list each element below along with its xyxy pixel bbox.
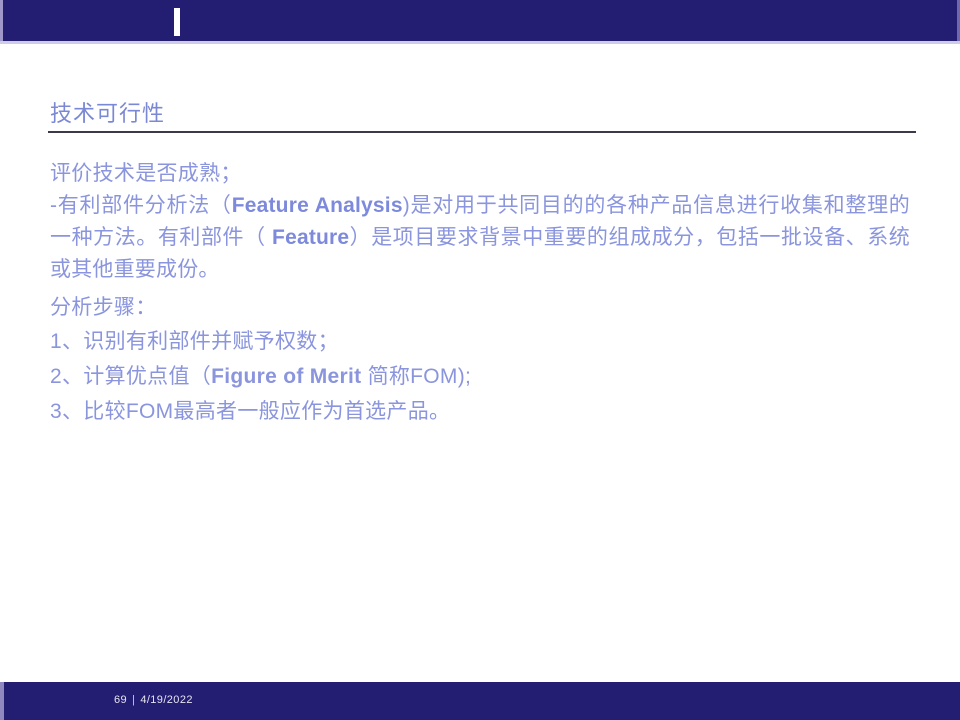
term-feature: Feature bbox=[272, 226, 349, 249]
term-feature-analysis: Feature Analysis bbox=[232, 194, 403, 217]
bottom-footer-band: 69|4/19/2022 bbox=[0, 682, 960, 720]
step-item-3: 3、比较FOM最高者一般应作为首选产品。 bbox=[50, 394, 920, 429]
footer-meta: 69|4/19/2022 bbox=[114, 693, 193, 707]
step-2-suffix: 简称FOM); bbox=[361, 365, 471, 388]
body-intro-line: 评价技术是否成熟； bbox=[50, 158, 920, 190]
page-title: 技术可行性 bbox=[50, 100, 165, 128]
page-number: 69 bbox=[114, 694, 127, 706]
definition-part-1: -有利部件分析法（ bbox=[50, 194, 232, 217]
definition-paragraph: -有利部件分析法（Feature Analysis)是对用于共同目的的各种产品信… bbox=[50, 190, 910, 286]
title-divider bbox=[48, 131, 916, 133]
step-3-text: 3、比较FOM最高者一般应作为首选产品。 bbox=[50, 400, 450, 423]
step-item-2: 2、计算优点值（Figure of Merit 简称FOM); bbox=[50, 359, 920, 394]
footer-left-edge bbox=[0, 682, 4, 720]
slide-body: 评价技术是否成熟； -有利部件分析法（Feature Analysis)是对用于… bbox=[50, 158, 920, 429]
footer-separator: | bbox=[127, 694, 140, 706]
term-figure-of-merit: Figure of Merit bbox=[211, 365, 361, 388]
step-item-1: 1、识别有利部件并赋予权数； bbox=[50, 324, 920, 359]
footer-date: 4/19/2022 bbox=[140, 694, 193, 706]
step-2-prefix: 2、计算优点值（ bbox=[50, 365, 211, 388]
step-1-text: 1、识别有利部件并赋予权数； bbox=[50, 330, 339, 353]
text-cursor-icon bbox=[174, 8, 180, 36]
steps-header: 分析步骤： bbox=[50, 292, 920, 324]
top-header-band bbox=[0, 0, 960, 41]
header-left-edge bbox=[0, 0, 3, 41]
slide-canvas: 技术可行性 评价技术是否成熟； -有利部件分析法（Feature Analysi… bbox=[0, 0, 960, 720]
